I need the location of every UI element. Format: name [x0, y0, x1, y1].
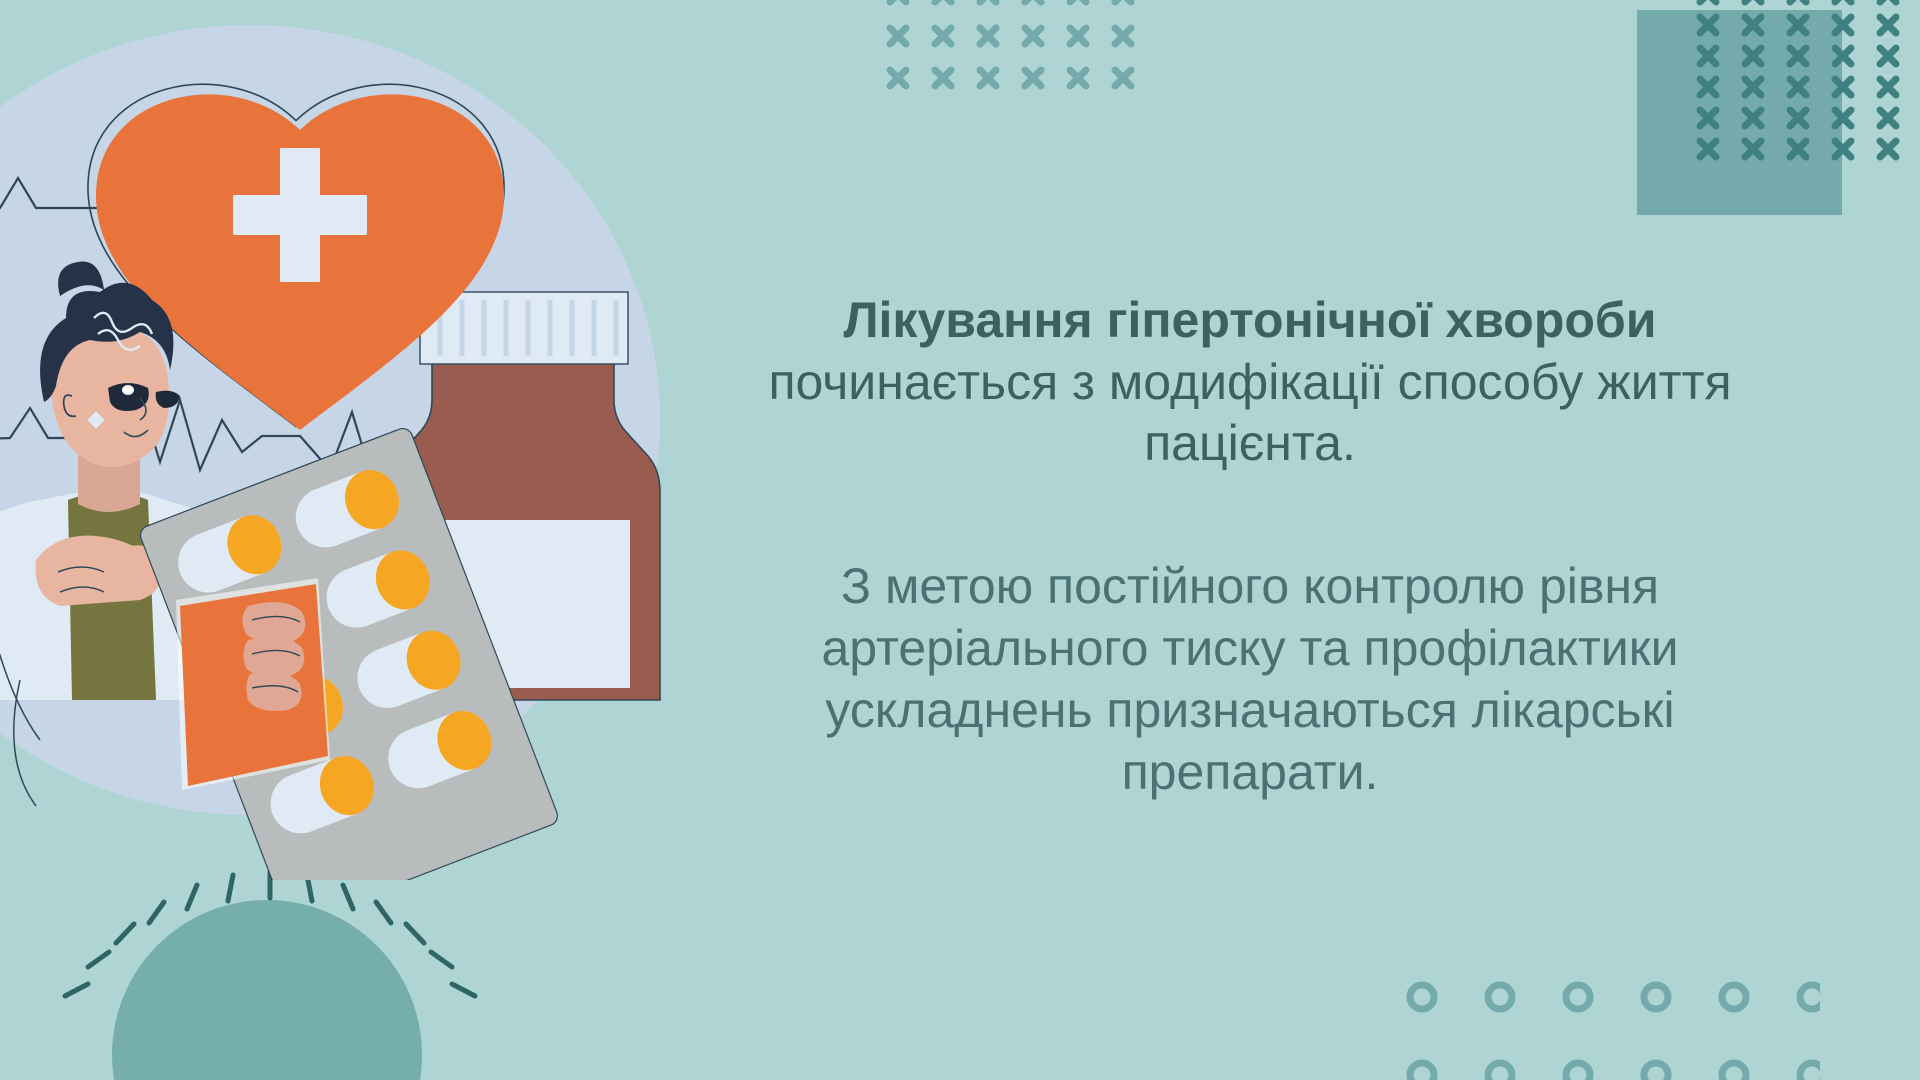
- headline-normal-part: починається з модифікації способу життя …: [768, 354, 1731, 472]
- slide-headline: Лікування гіпертонічної хвороби починаєт…: [700, 290, 1800, 475]
- slide-paragraph: З метою постійного контролю рівня артері…: [700, 555, 1800, 803]
- ring-dots-pattern: [1400, 975, 1820, 1080]
- x-marks-pattern-top: [880, 0, 1140, 108]
- x-marks-pattern-top-right: [1690, 0, 1920, 178]
- presentation-slide: Лікування гіпертонічної хвороби починаєт…: [0, 0, 1920, 1080]
- slide-text-block: Лікування гіпертонічної хвороби починаєт…: [700, 290, 1800, 803]
- doctor-with-medication-illustration: [0, 0, 680, 880]
- headline-bold-part: Лікування гіпертонічної хвороби: [843, 292, 1656, 348]
